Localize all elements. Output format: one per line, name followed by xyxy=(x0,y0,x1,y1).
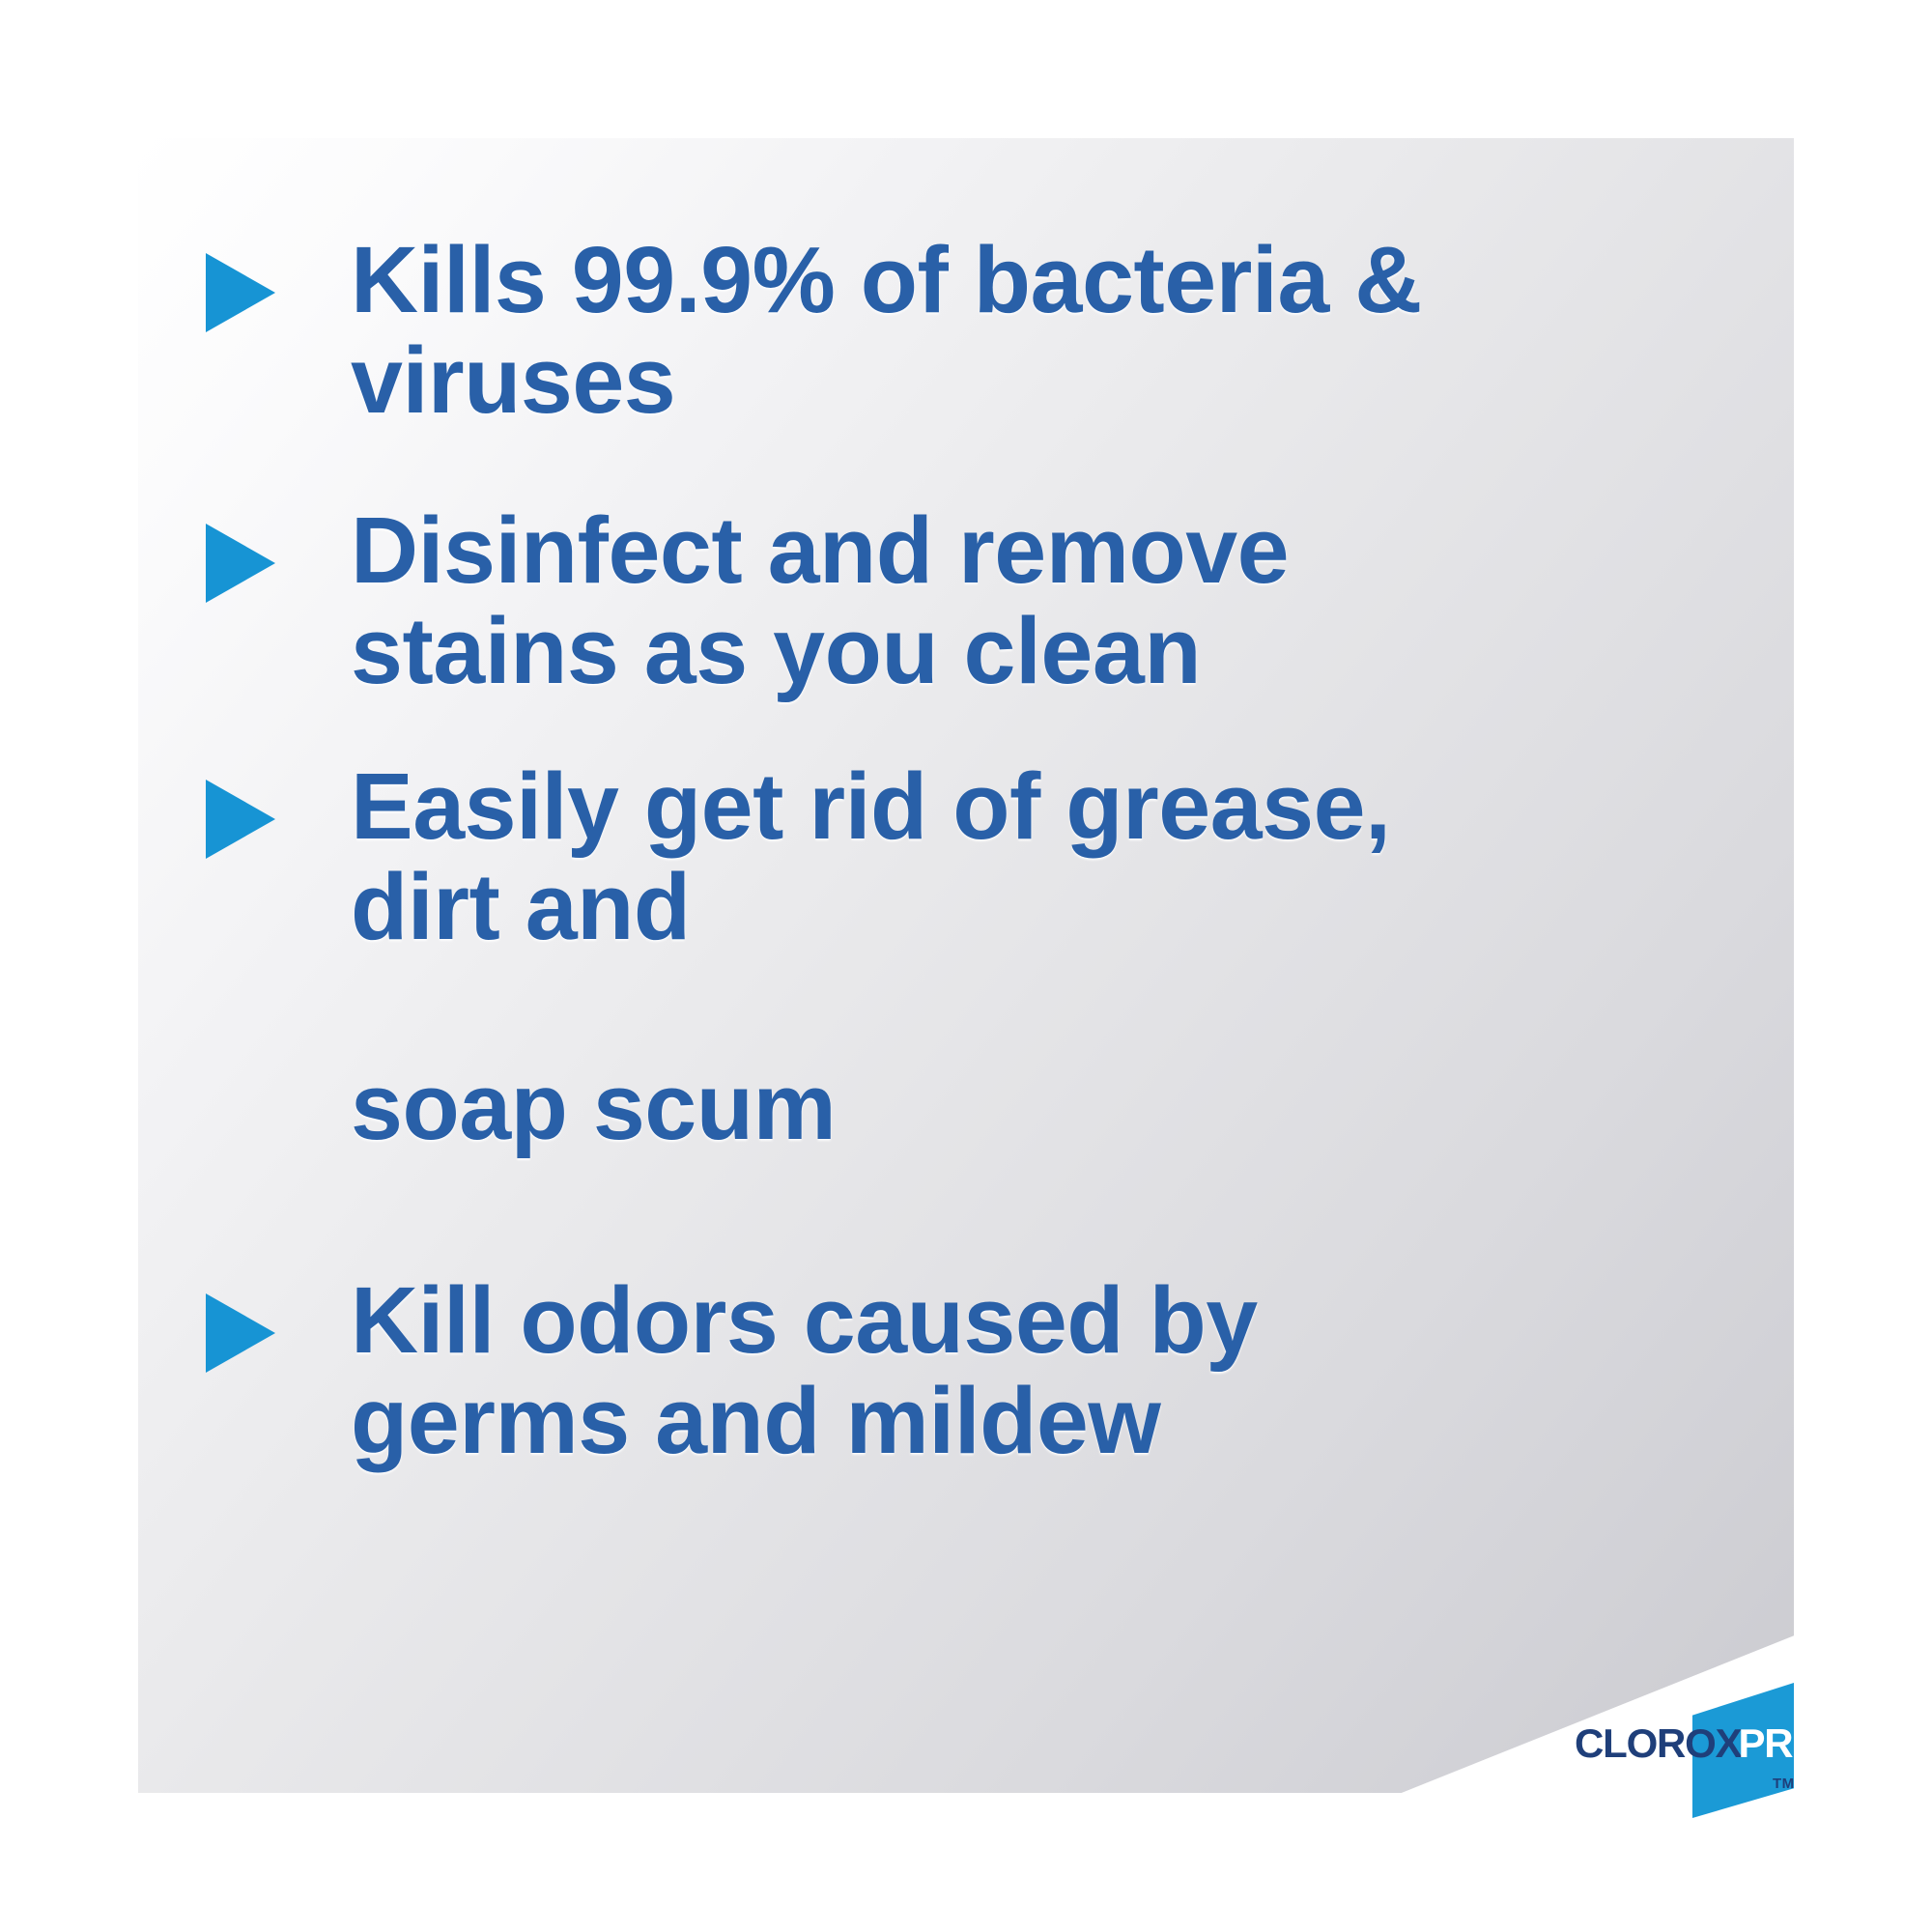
benefit-list: Kills 99.9% of bacteria & viruses Disinf… xyxy=(138,138,1794,1793)
list-item: Disinfect and remove stains as you clean xyxy=(206,500,1655,701)
list-item-label: Disinfect and remove stains as you clean xyxy=(351,500,1655,701)
triangle-right-icon xyxy=(206,1293,275,1373)
list-item: Kills 99.9% of bacteria & viruses xyxy=(206,230,1655,431)
cloroxpro-logo: CLOROX PRO TM xyxy=(1575,1683,1816,1828)
logo-brand-secondary: PRO xyxy=(1738,1723,1822,1764)
logo-brand-primary: CLOROX xyxy=(1575,1723,1741,1764)
product-claims-graphic: Kills 99.9% of bacteria & viruses Disinf… xyxy=(0,0,1932,1932)
list-item-label: Kills 99.9% of bacteria & viruses xyxy=(351,230,1655,431)
logo-trademark-symbol: TM xyxy=(1773,1776,1795,1792)
list-item-label: Easily get rid of grease, dirt and soap … xyxy=(351,756,1655,1157)
logo-wordmark: CLOROX PRO xyxy=(1575,1723,1823,1764)
list-item: Kill odors caused by germs and mildew xyxy=(206,1270,1655,1471)
list-item-label: Kill odors caused by germs and mildew xyxy=(351,1270,1655,1471)
triangle-right-icon xyxy=(206,780,275,859)
triangle-right-icon xyxy=(206,253,275,332)
list-item: Easily get rid of grease, dirt and soap … xyxy=(206,756,1655,1157)
triangle-right-icon xyxy=(206,524,275,603)
